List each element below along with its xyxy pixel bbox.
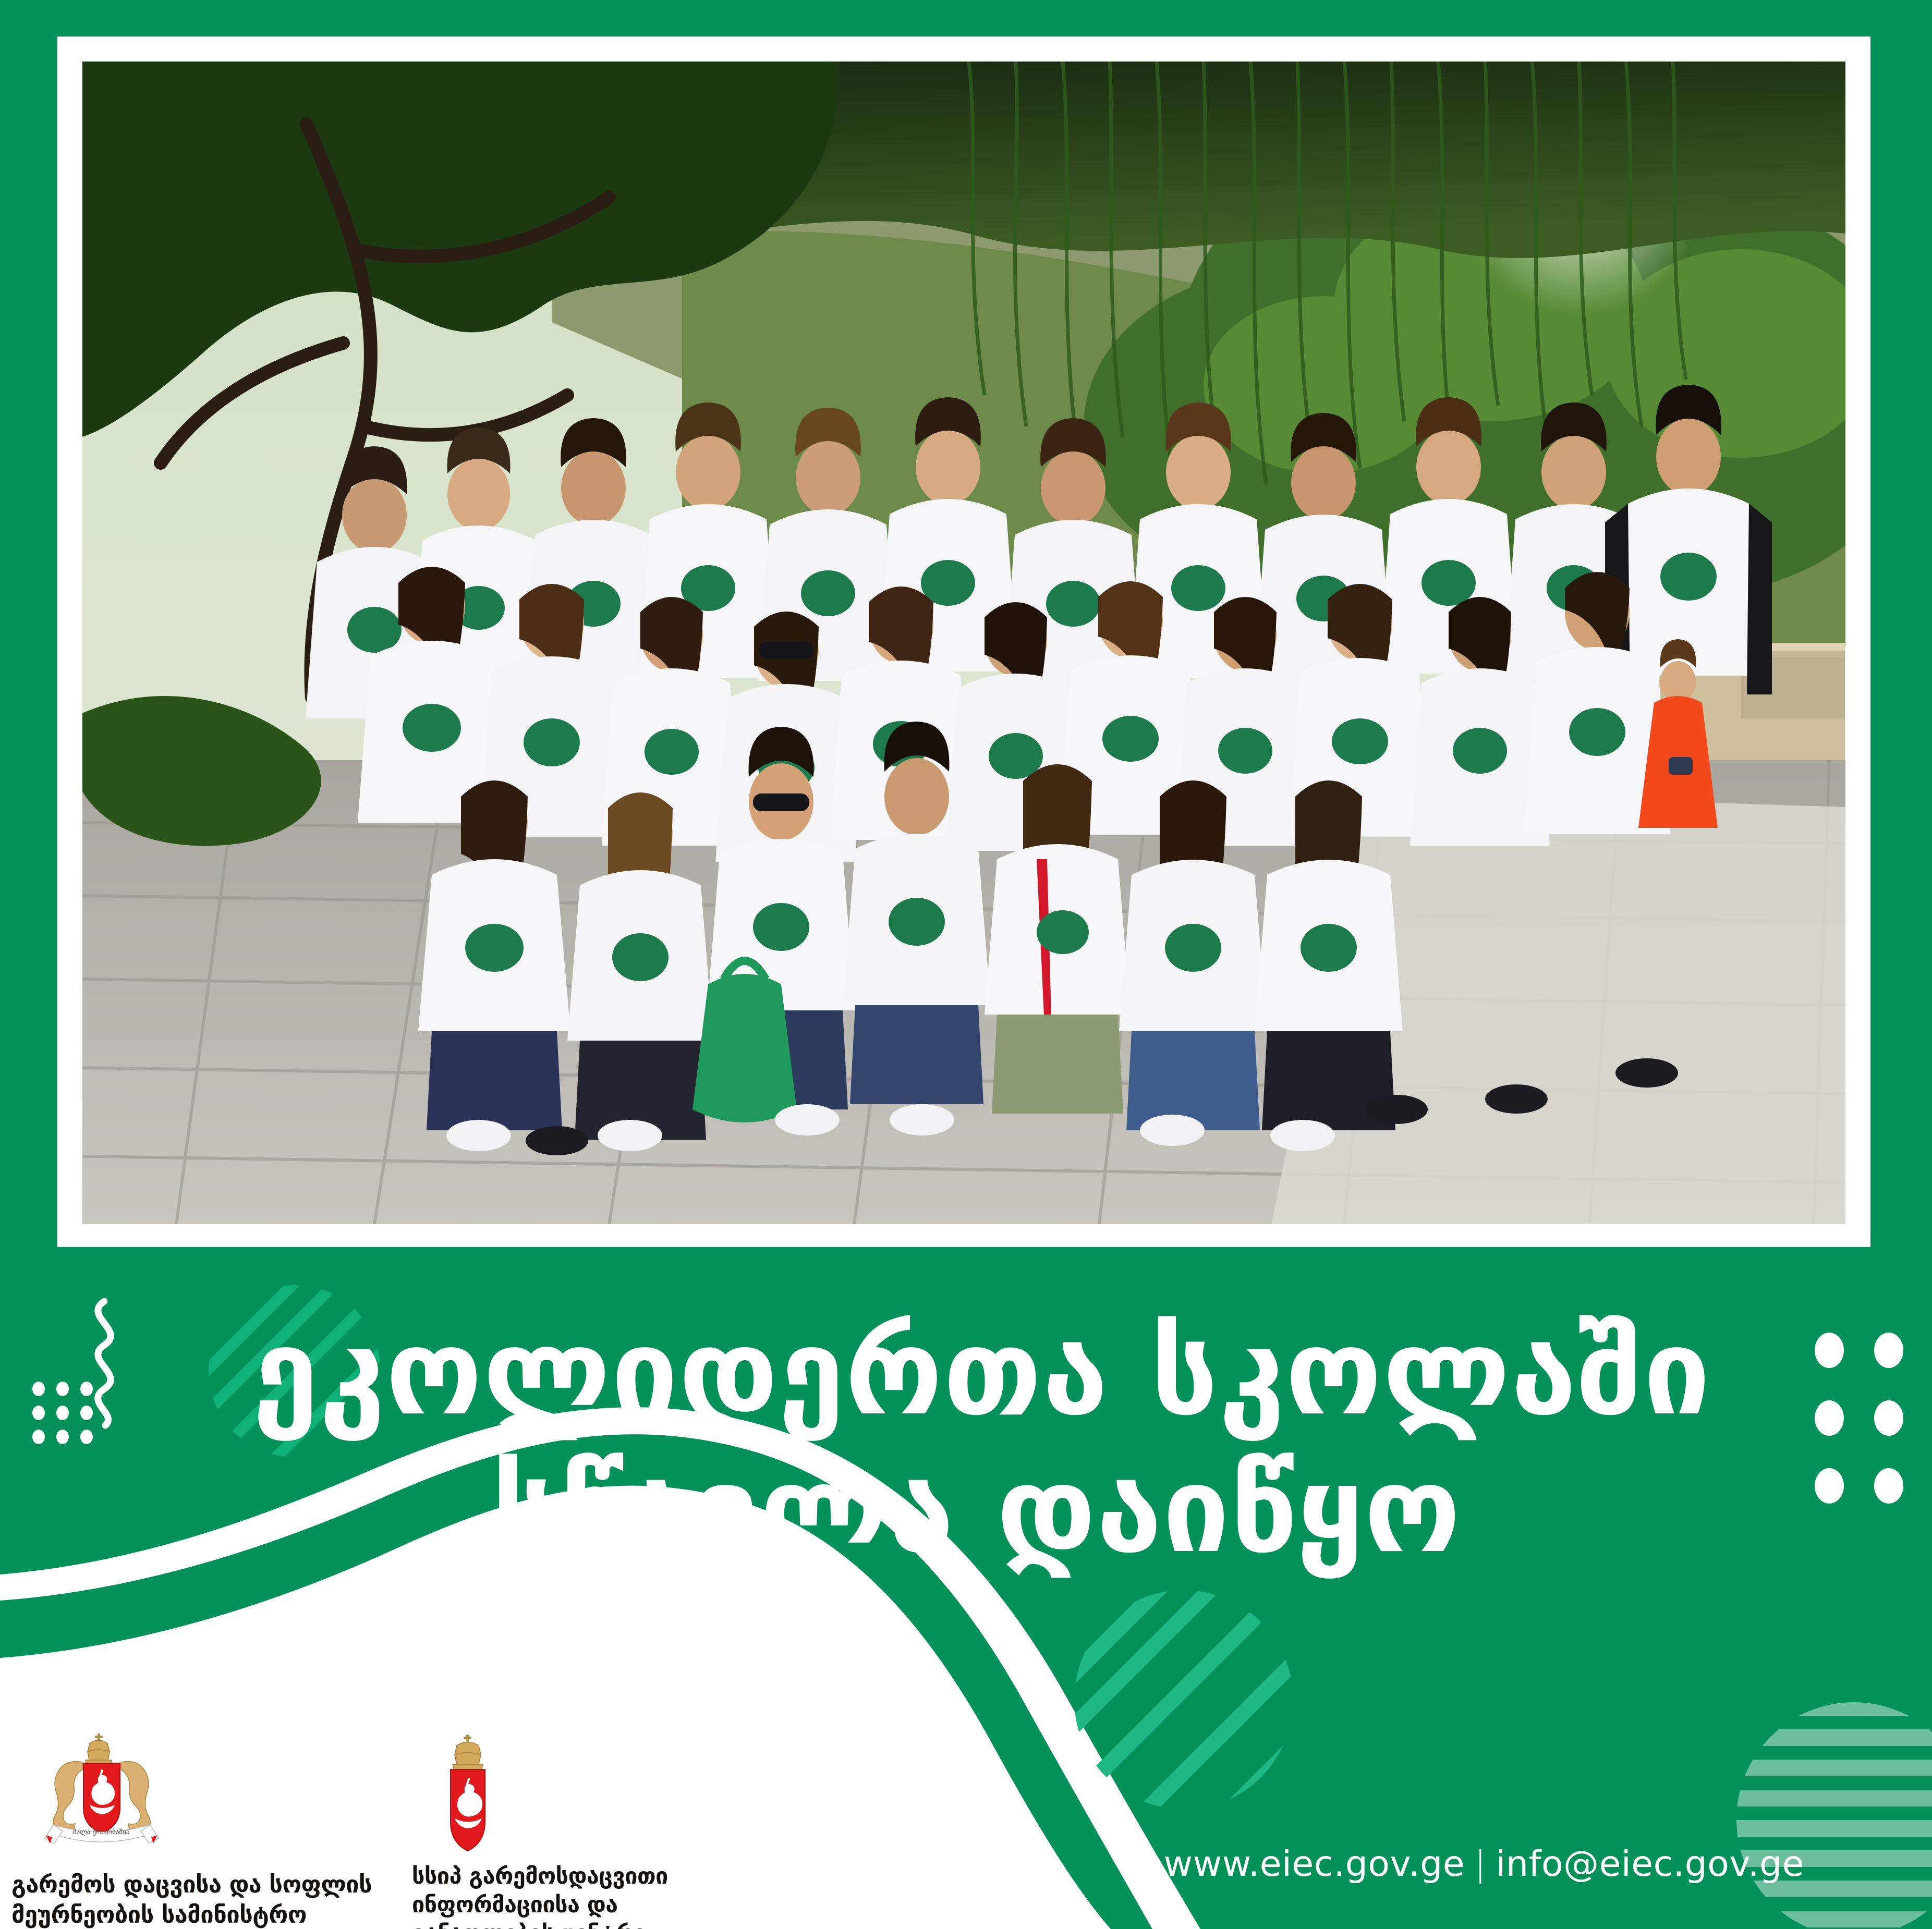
poster-root: ეკოლიდერთა სკოლაში სწავლა დაიწყო (0, 0, 1932, 1929)
ministry-logo-block: ძალა ერთობაშია გარემოს დაცვისა და სოფლის… (11, 1732, 413, 1929)
headline-line-2: სწავლა დაიწყო (0, 1441, 1932, 1579)
group-photo (82, 62, 1845, 1224)
contact-separator: | (1465, 1843, 1496, 1885)
contact-line: www.eiec.gov.ge|info@eiec.gov.ge (1163, 1843, 1804, 1885)
center-logo-block: სსიპ გარემოსდაცვითი ინფორმაციისა და განა… (412, 1732, 746, 1929)
photo-frame (57, 36, 1870, 1247)
email-link[interactable]: info@eiec.gov.ge (1496, 1843, 1804, 1885)
footer: ძალა ერთობაშია გარემოს დაცვისა და სოფლის… (0, 1720, 1932, 1929)
poster-headline: ეკოლიდერთა სკოლაში სწავლა დაიწყო (0, 1303, 1932, 1579)
georgia-coat-of-arms-icon: ძალა ერთობაშია (31, 1732, 172, 1862)
website-link[interactable]: www.eiec.gov.ge (1163, 1843, 1465, 1885)
headline-line-1: ეკოლიდერთა სკოლაში (0, 1303, 1932, 1441)
center-caption: სსიპ გარემოსდაცვითი ინფორმაციისა და განა… (412, 1862, 668, 1929)
svg-text:ძალა ერთობაშია: ძალა ერთობაშია (73, 1828, 130, 1836)
georgia-shield-emblem-icon (434, 1732, 502, 1857)
ministry-caption: გარემოს დაცვისა და სოფლის მეურნეობის სამ… (11, 1870, 372, 1929)
